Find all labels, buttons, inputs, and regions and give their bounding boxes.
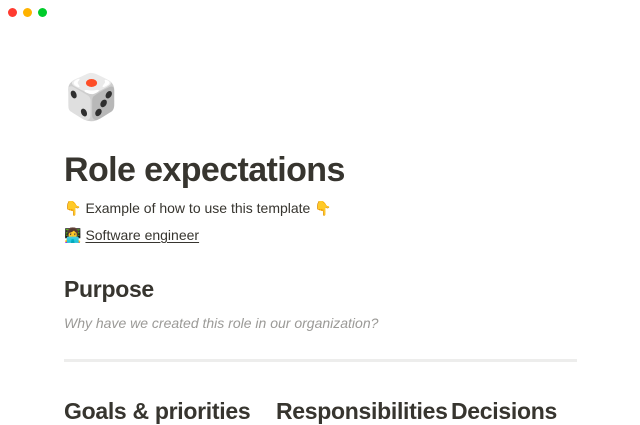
column-heading-decisions[interactable]: Decisions: [451, 397, 577, 425]
columns-row: Goals & priorities Responsibilities Deci…: [64, 397, 577, 425]
document-canvas[interactable]: 🎲 Role expectations 👇 Example of how to …: [0, 26, 640, 400]
section-heading-purpose[interactable]: Purpose: [64, 245, 577, 303]
close-window-button[interactable]: [8, 8, 17, 17]
point-down-right-icon: 👇: [314, 198, 331, 218]
maximize-window-button[interactable]: [38, 8, 47, 17]
dice-emoji-icon[interactable]: 🎲: [64, 76, 577, 128]
role-link-software-engineer[interactable]: Software engineer: [85, 225, 199, 245]
technologist-icon: 👩‍💻: [64, 225, 81, 245]
column-heading-responsibilities[interactable]: Responsibilities: [276, 397, 451, 425]
section-divider: [64, 359, 577, 362]
page-title[interactable]: Role expectations: [64, 128, 577, 191]
callout-text: Example of how to use this template: [85, 198, 310, 218]
minimize-window-button[interactable]: [23, 8, 32, 17]
document-content: 🎲 Role expectations 👇 Example of how to …: [64, 26, 577, 425]
window-titlebar: [0, 0, 640, 26]
column-heading-goals[interactable]: Goals & priorities: [64, 397, 276, 425]
point-down-left-icon: 👇: [64, 198, 81, 218]
role-line: 👩‍💻 Software engineer: [64, 225, 577, 245]
callout-line: 👇 Example of how to use this template 👇: [64, 198, 577, 218]
traffic-lights: [8, 8, 47, 17]
section-hint-purpose[interactable]: Why have we created this role in our org…: [64, 313, 577, 333]
